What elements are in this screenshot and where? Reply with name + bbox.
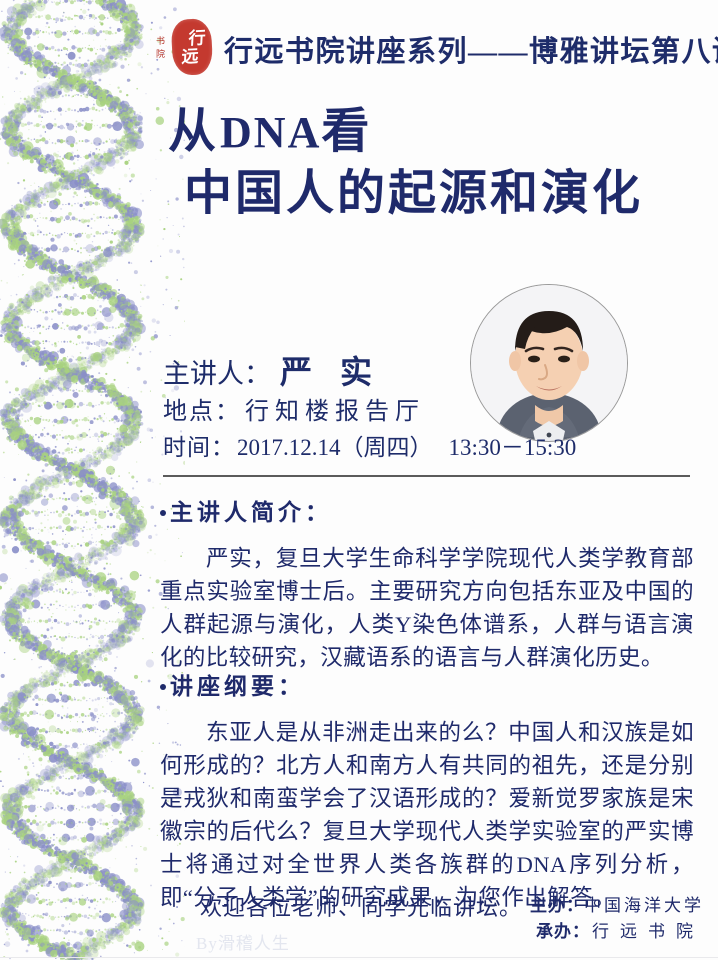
speckle-fleck	[706, 519, 708, 521]
speckle-fleck	[173, 91, 174, 92]
coorganizer-value: 行远书院	[590, 922, 704, 941]
speckle-fleck	[211, 99, 215, 103]
speckle-fleck	[703, 288, 704, 289]
time-date: 2017.12.14（周四）	[237, 430, 433, 466]
speckle-fleck	[200, 304, 202, 306]
speckle-fleck	[628, 326, 629, 327]
institute-seal: 书院 行 远	[150, 13, 218, 85]
speckle-fleck	[453, 293, 454, 294]
coorganizer-label: 承办：	[536, 922, 590, 941]
speckle-fleck	[386, 265, 387, 266]
bottom-rule	[0, 957, 718, 958]
speckle-fleck	[658, 101, 659, 102]
speckle-fleck	[584, 269, 586, 271]
speckle-fleck	[690, 235, 691, 236]
speckle-fleck	[581, 467, 582, 468]
place-label: 地点：	[163, 394, 241, 430]
bio-heading-row: 主讲人简介：	[160, 498, 694, 528]
speaker-name: 严 实	[280, 352, 382, 392]
seal-side-text: 书院	[154, 35, 167, 61]
time-range: 13:30－15:30	[449, 430, 577, 466]
host-row: 主办：中国海洋大学	[530, 893, 704, 919]
seal-stamp-char-1: 行	[188, 29, 205, 47]
speckle-fleck	[155, 331, 157, 333]
speckle-fleck	[532, 485, 534, 487]
section-divider	[163, 475, 690, 477]
speckle-fleck	[510, 7, 511, 8]
outline-heading: 讲座纲要：	[170, 672, 305, 702]
speckle-fleck	[537, 274, 539, 276]
speckle-fleck	[676, 274, 678, 276]
place-value: 行知楼报告厅	[245, 394, 425, 430]
speckle-fleck	[293, 236, 294, 237]
speckle-fleck	[552, 480, 554, 482]
speckle-fleck	[353, 321, 355, 323]
title-line-2: 中国人的起源和演化	[184, 165, 706, 223]
time-label: 时间：	[163, 430, 235, 466]
speckle-fleck	[462, 99, 465, 102]
organizers-block: 主办：中国海洋大学 承办：行远书院	[530, 893, 704, 945]
speckle-fleck	[155, 534, 157, 536]
bullet-icon	[160, 510, 166, 516]
speckle-fleck	[516, 95, 517, 96]
speckle-fleck	[638, 491, 640, 493]
speckle-fleck	[219, 279, 220, 280]
speckle-fleck	[554, 269, 556, 271]
speckle-fleck	[345, 305, 347, 307]
info-row-place: 地点： 行知楼报告厅	[163, 394, 583, 430]
speckle-fleck	[330, 333, 331, 334]
speckle-fleck	[338, 336, 343, 341]
outline-heading-row: 讲座纲要：	[160, 672, 694, 702]
watermark-text: By滑稽人生	[196, 929, 290, 954]
speckle-fleck	[173, 7, 177, 11]
seal-stamp-char-2: 远	[181, 47, 198, 65]
speckle-fleck	[243, 333, 248, 338]
bio-body: 严实，复旦大学生命科学学院现代人类学教育部重点实验室博士后。主要研究方向包括东亚…	[160, 542, 694, 674]
speckle-fleck	[162, 238, 164, 240]
speckle-fleck	[346, 244, 348, 246]
speckle-fleck	[292, 269, 294, 271]
bio-heading: 主讲人简介：	[170, 498, 332, 528]
seal-stamp-icon: 行 远	[171, 18, 214, 76]
speckle-fleck	[338, 316, 339, 317]
speckle-fleck	[604, 468, 606, 470]
title-latin-dna: DNA	[220, 108, 321, 157]
speckle-fleck	[408, 296, 413, 301]
speckle-fleck	[488, 93, 490, 95]
speckle-fleck	[384, 295, 385, 296]
bullet-icon	[160, 684, 166, 690]
speckle-fleck	[199, 249, 204, 254]
speckle-fleck	[286, 339, 287, 340]
speckle-fleck	[211, 267, 213, 269]
info-row-speaker: 主讲人： 严 实	[163, 352, 583, 394]
coorganizer-row: 承办：行远书院	[530, 919, 704, 945]
speckle-fleck	[683, 354, 687, 358]
outline-body: 东亚人是从非洲走出来的么？中国人和汉族是如何形成的？北方人和南方人有共同的祖先，…	[160, 716, 694, 914]
speckle-fleck	[651, 329, 652, 330]
speckle-fleck	[239, 328, 241, 330]
speckle-fleck	[182, 258, 184, 260]
lecture-series-title: 行远书院讲座系列——博雅讲坛第八讲	[224, 28, 718, 70]
host-label: 主办：	[530, 896, 584, 915]
speckle-fleck	[654, 369, 655, 370]
host-value: 中国海洋大学	[584, 896, 704, 915]
info-row-time: 时间： 2017.12.14（周四） 13:30－15:30	[163, 430, 583, 466]
speaker-label: 主讲人：	[163, 354, 271, 394]
speckle-fleck	[392, 470, 393, 471]
poster-title: 从DNA看 中国人的起源和演化	[160, 104, 706, 223]
speckle-fleck	[155, 159, 156, 160]
title-line-1: 从DNA看	[168, 104, 706, 161]
speckle-fleck	[533, 228, 534, 229]
speckle-fleck	[286, 0, 288, 2]
speckle-fleck	[637, 262, 640, 265]
speckle-fleck	[261, 299, 263, 301]
speckle-fleck	[641, 101, 643, 103]
poster-canvas: 书院 行 远 行远书院讲座系列——博雅讲坛第八讲 从DNA看 中国人的起源和演化	[0, 0, 718, 960]
title-suffix: 看	[321, 105, 373, 158]
speckle-fleck	[329, 492, 330, 493]
speckle-fleck	[598, 435, 600, 437]
speckle-fleck	[548, 92, 549, 93]
title-prefix: 从	[168, 105, 220, 158]
welcome-message: 欢迎各位老师、同学光临讲坛。	[200, 893, 522, 923]
speckle-fleck	[217, 258, 219, 260]
speckle-fleck	[447, 234, 449, 236]
speckle-fleck	[683, 260, 685, 262]
poster-header: 书院 行 远 行远书院讲座系列——博雅讲坛第八讲	[150, 12, 706, 86]
speckle-fleck	[187, 338, 192, 343]
speaker-bio-section: 主讲人简介： 严实，复旦大学生命科学学院现代人类学教育部重点实验室博士后。主要研…	[160, 498, 694, 674]
speckle-fleck	[217, 349, 219, 351]
lecture-outline-section: 讲座纲要： 东亚人是从非洲走出来的么？中国人和汉族是如何形成的？北方人和南方人有…	[160, 672, 694, 914]
lecture-info: 主讲人： 严 实 地点： 行知楼报告厅 时间： 2017.12.14（周四） 1…	[163, 352, 583, 466]
speckle-fleck	[313, 253, 315, 255]
